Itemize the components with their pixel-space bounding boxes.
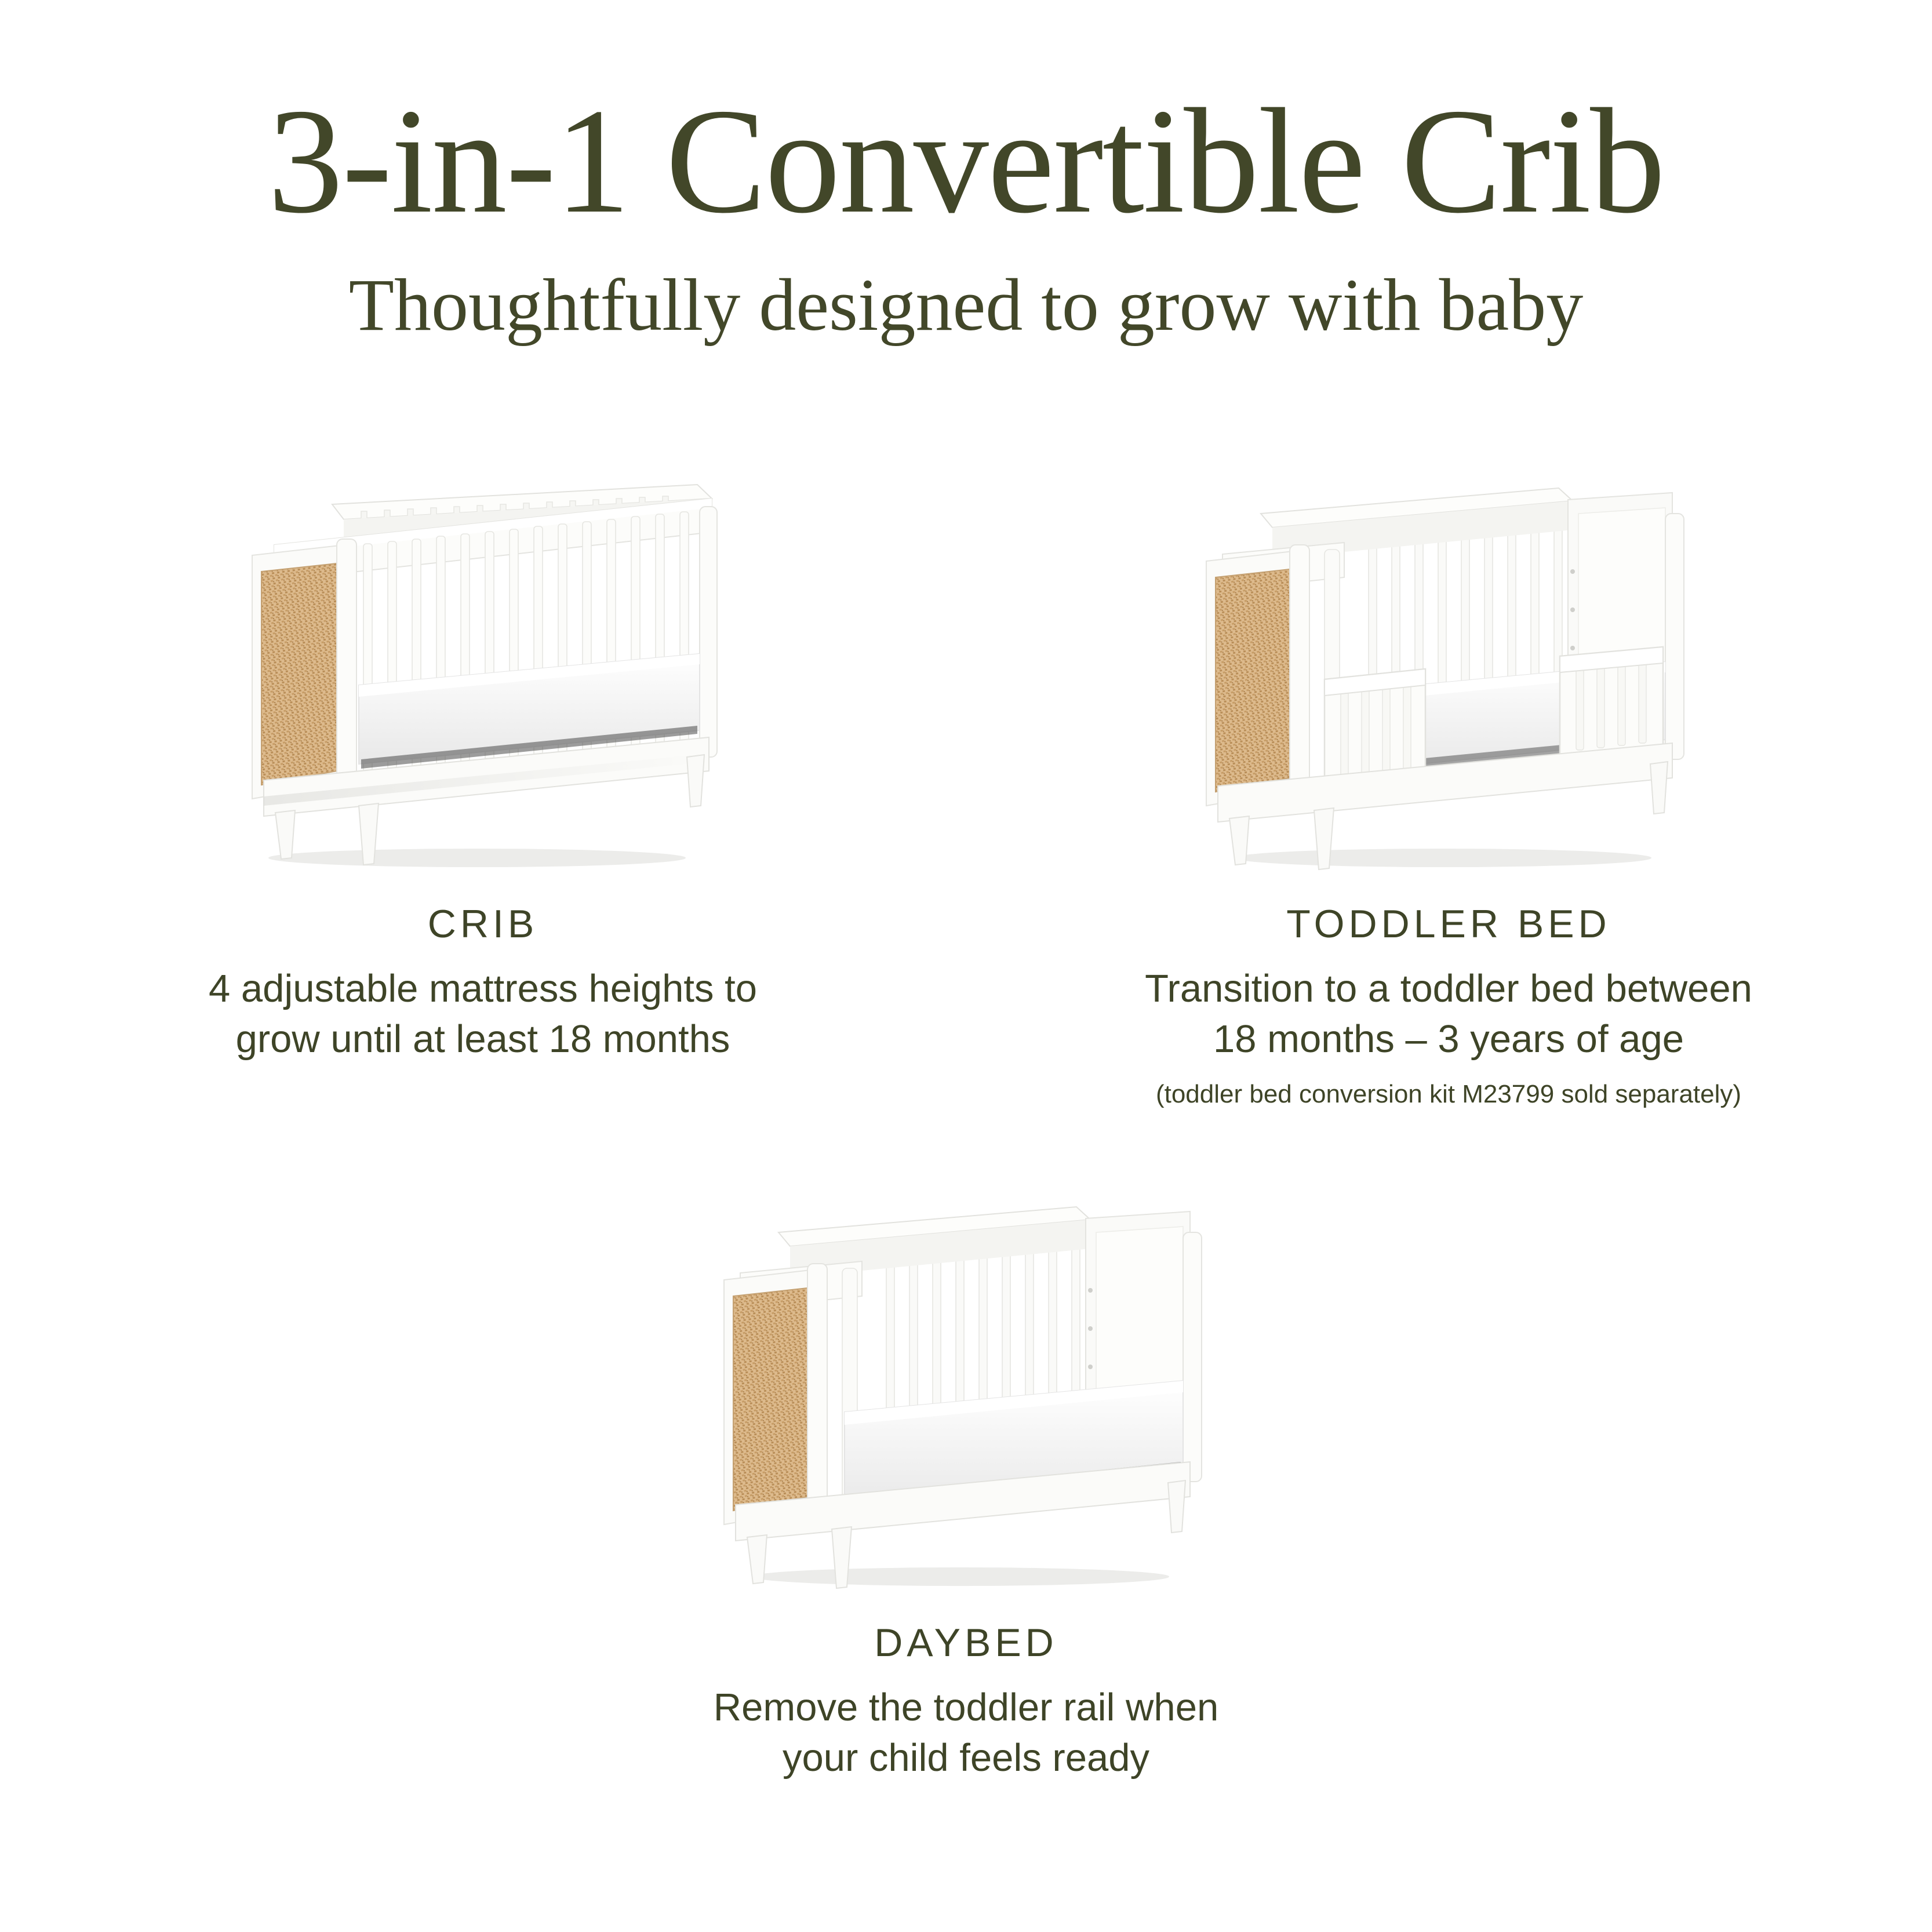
left-corner-post (337, 539, 356, 789)
crib-illustration (187, 458, 778, 875)
daybed-description-line-2: your child feels ready (624, 1733, 1308, 1783)
toddler-bed-fine-print: (toddler bed conversion kit M23799 sold … (1107, 1079, 1791, 1110)
left-corner-post (1290, 545, 1309, 802)
daybed-description-line-1: Remove the toddler rail when (624, 1682, 1308, 1733)
cane-webbing-panel (1216, 569, 1290, 792)
tapered-leg (1650, 762, 1668, 814)
right-corner-post (1183, 1232, 1202, 1482)
left-corner-post (807, 1264, 827, 1521)
crib-figure (187, 458, 778, 875)
right-corner-post (1665, 514, 1684, 759)
crib-caption: CRIB 4 adjustable mattress heights to gr… (141, 904, 825, 1064)
toddler-bed-description-line-1: Transition to a toddler bed between (1107, 963, 1791, 1014)
bottom-row: DAYBED Remove the toddler rail when your… (0, 1177, 1932, 1872)
tapered-leg (747, 1535, 767, 1584)
crib-description-line-2: grow until at least 18 months (141, 1014, 825, 1064)
crib-label: CRIB (141, 904, 825, 944)
toddler-bed-description: Transition to a toddler bed between 18 m… (1107, 963, 1791, 1064)
infographic-header: 3-in-1 Convertible Crib Thoughtfully des… (0, 0, 1932, 342)
tapered-leg (687, 755, 704, 807)
toddler-bed-figure (1153, 458, 1744, 875)
daybed-figure (671, 1177, 1262, 1594)
daybed-description: Remove the toddler rail when your child … (624, 1682, 1308, 1783)
right-corner-post (700, 507, 717, 757)
floor-shadow (1234, 849, 1651, 867)
floor-shadow (752, 1567, 1169, 1586)
floor-shadow (268, 849, 686, 867)
toddler-bed-label: TODDLER BED (1107, 904, 1791, 944)
crib-description: 4 adjustable mattress heights to grow un… (141, 963, 825, 1064)
daybed-illustration (671, 1177, 1262, 1594)
page-title: 3-in-1 Convertible Crib (0, 86, 1932, 237)
cane-webbing-panel (733, 1288, 807, 1511)
tapered-leg (275, 810, 295, 859)
tapered-leg (1168, 1480, 1185, 1533)
toddler-bed-caption: TODDLER BED Transition to a toddler bed … (1107, 904, 1791, 1110)
toddler-bed-description-line-2: 18 months – 3 years of age (1107, 1014, 1791, 1064)
toddler-bed-cell: TODDLER BED Transition to a toddler bed … (966, 458, 1931, 1154)
daybed-cell: DAYBED Remove the toddler rail when your… (483, 1177, 1449, 1872)
cane-webbing-panel (261, 563, 337, 785)
crib-cell: CRIB 4 adjustable mattress heights to gr… (0, 458, 966, 1154)
page-subtitle: Thoughtfully designed to grow with baby (0, 268, 1932, 342)
daybed-label: DAYBED (624, 1623, 1308, 1662)
daybed-caption: DAYBED Remove the toddler rail when your… (624, 1623, 1308, 1783)
top-row: CRIB 4 adjustable mattress heights to gr… (0, 458, 1932, 1154)
crib-description-line-1: 4 adjustable mattress heights to (141, 963, 825, 1014)
tapered-leg (1229, 816, 1249, 865)
toddler-bed-illustration (1153, 458, 1744, 875)
